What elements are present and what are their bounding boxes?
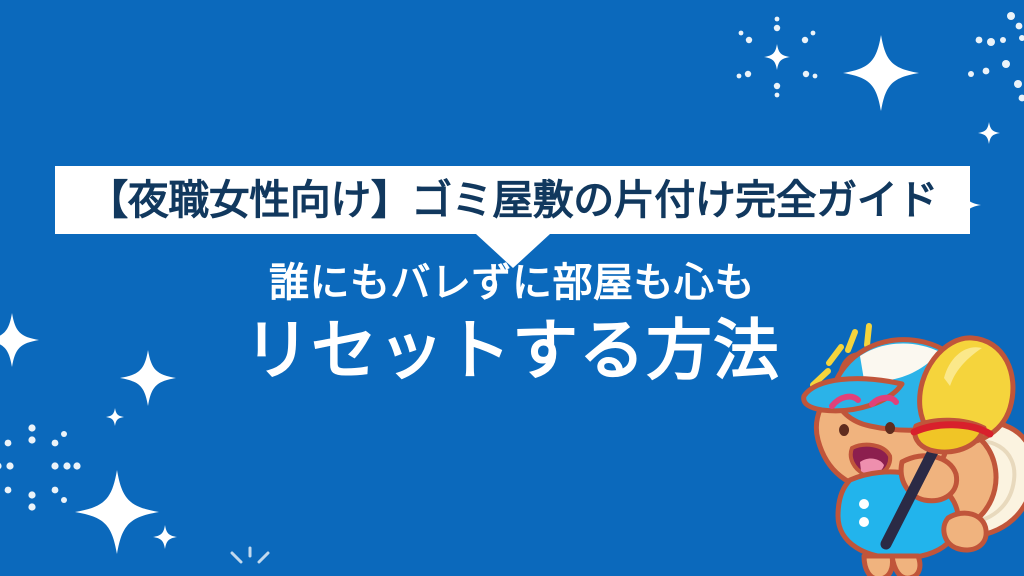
mascot-eye-right bbox=[885, 422, 895, 434]
dash-burst-bottom-icon bbox=[232, 548, 268, 562]
mascot-squirrel-with-broom bbox=[798, 322, 1024, 576]
mascot-button-bottom bbox=[859, 517, 869, 527]
star-top-far-right-icon bbox=[978, 122, 1000, 144]
star-left-tiny-icon bbox=[106, 408, 124, 426]
title-banner-box: 【夜職女性向け】ゴミ屋敷の片付け完全ガイド bbox=[55, 166, 970, 234]
eyecatch-canvas: 【夜職女性向け】ゴミ屋敷の片付け完全ガイド 誰にもバレずに部屋も心も リセットす… bbox=[0, 0, 1024, 576]
star-top-right-large-icon bbox=[843, 35, 919, 111]
mascot-button-top bbox=[859, 499, 869, 509]
star-bottom-left-small-icon bbox=[153, 525, 177, 549]
dot-burst-left-icon bbox=[0, 424, 81, 510]
dot-burst-far-right-icon bbox=[968, 12, 1024, 101]
mascot-foot-right bbox=[892, 556, 920, 576]
title-banner-text: 【夜職女性向け】ゴミ屋敷の片付け完全ガイド bbox=[87, 180, 938, 221]
star-bottom-left-large-icon bbox=[75, 470, 159, 554]
mascot-eye-left bbox=[839, 424, 849, 436]
star-top-right-small-icon bbox=[764, 44, 790, 70]
mascot-foot-left bbox=[864, 556, 893, 576]
headline-subline: 誰にもバレずに部屋も心も bbox=[0, 258, 1024, 308]
mascot-hand-lower bbox=[944, 513, 986, 550]
title-banner: 【夜職女性向け】ゴミ屋敷の片付け完全ガイド bbox=[55, 166, 970, 234]
dot-burst-top-right-icon bbox=[737, 17, 818, 98]
